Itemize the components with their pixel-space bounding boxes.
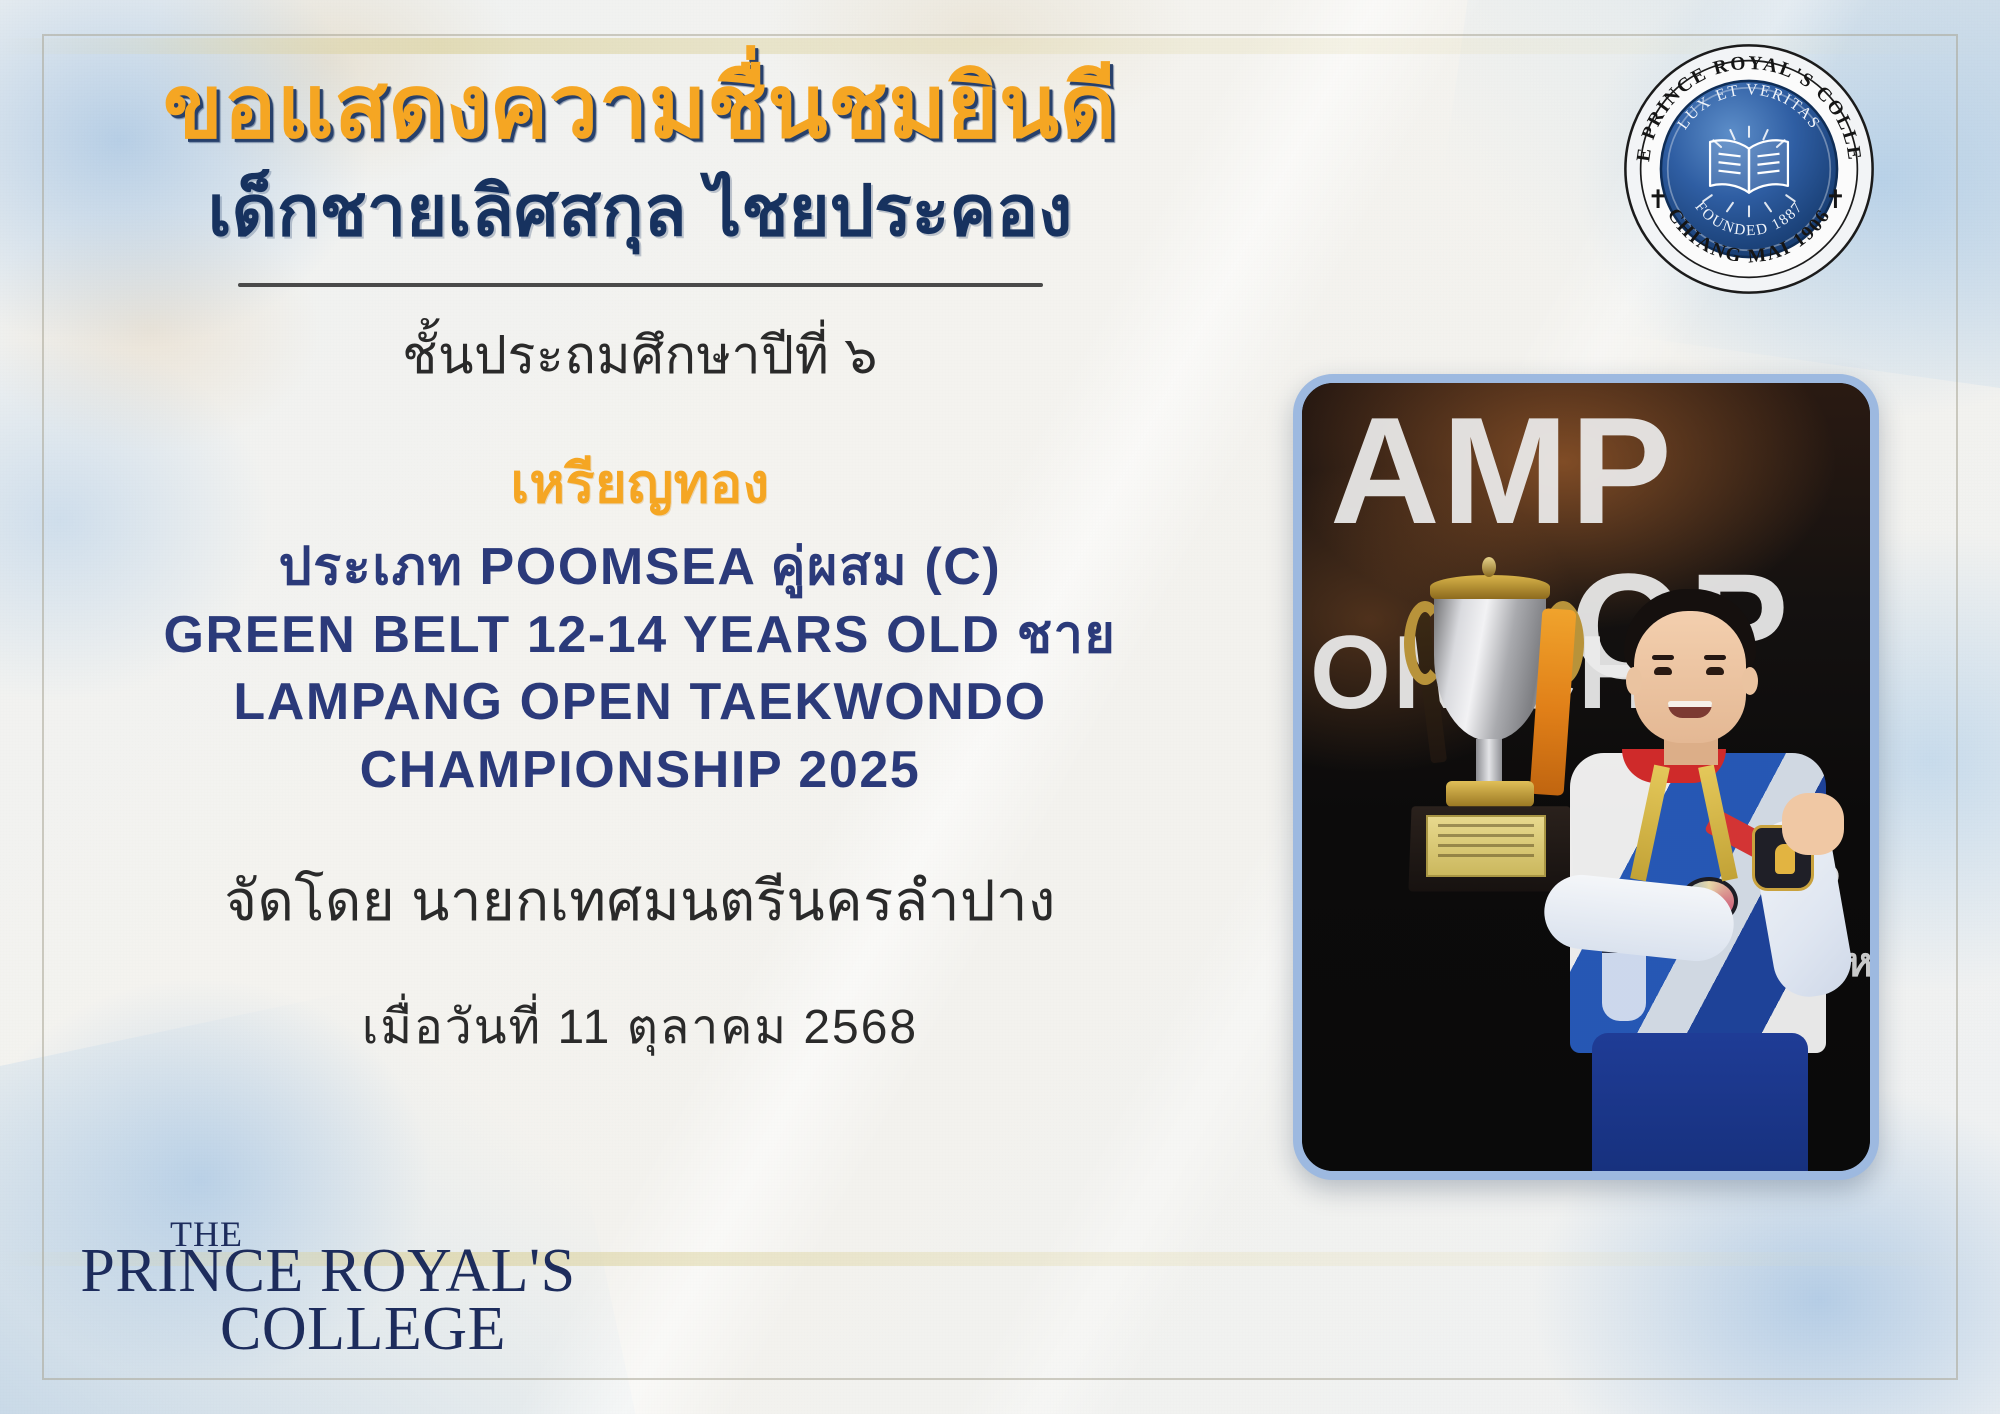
grade-level: ชั้นประถมศึกษาปีที่ ๖ [70,313,1210,396]
svg-text:✝: ✝ [1825,186,1846,214]
event-date-line: เมื่อวันที่ 11 ตุลาคม 2568 [70,989,1210,1065]
organizer-line: จัดโดย นายกเทศมนตรีนครลำปาง [70,856,1210,945]
school-wordmark: THE PRINCE ROYAL'S COLLEGE [78,1218,578,1358]
backdrop-text-amp: AMP [1330,395,1674,547]
divider-rule [238,283,1043,287]
congratulations-headline: ขอแสดงความชื่นชมยินดี [70,58,1210,157]
event-detail-line-4: CHAMPIONSHIP 2025 [70,737,1210,805]
event-detail-line-2: GREEN BELT 12-14 YEARS OLD ชาย [70,602,1210,670]
event-detail-line-3: LAMPANG OPEN TAEKWONDO [70,669,1210,737]
event-detail-line-1: ประเภท POOMSEA คู่ผสม (C) [70,534,1210,602]
wordmark-line-college: COLLEGE [148,1302,578,1358]
poster-text-column: ขอแสดงความชื่นชมยินดี เด็กชายเลิศสกุล ไช… [70,58,1210,1065]
athlete-figure [1514,581,1870,1171]
open-book-icon [1710,140,1788,192]
award-photo: AMP OP ON CHA • มห [1293,374,1879,1180]
svg-text:✝: ✝ [1647,186,1668,214]
school-seal-logo: THE PRINCE ROYAL'S COLLEGE CHIANG MAI 19… [1622,42,1876,296]
student-name: เด็กชายเลิศสกุล ไชยประคอง [70,171,1210,252]
award-photo-image: AMP OP ON CHA • มห [1302,383,1870,1171]
congratulation-poster: ขอแสดงความชื่นชมยินดี เด็กชายเลิศสกุล ไช… [0,0,2000,1414]
event-detail-block: ประเภท POOMSEA คู่ผสม (C) GREEN BELT 12-… [70,534,1210,804]
medal-award-label: เหรียญทอง [70,440,1210,526]
wordmark-line-prince-royals: PRINCE ROYAL'S [78,1244,578,1300]
